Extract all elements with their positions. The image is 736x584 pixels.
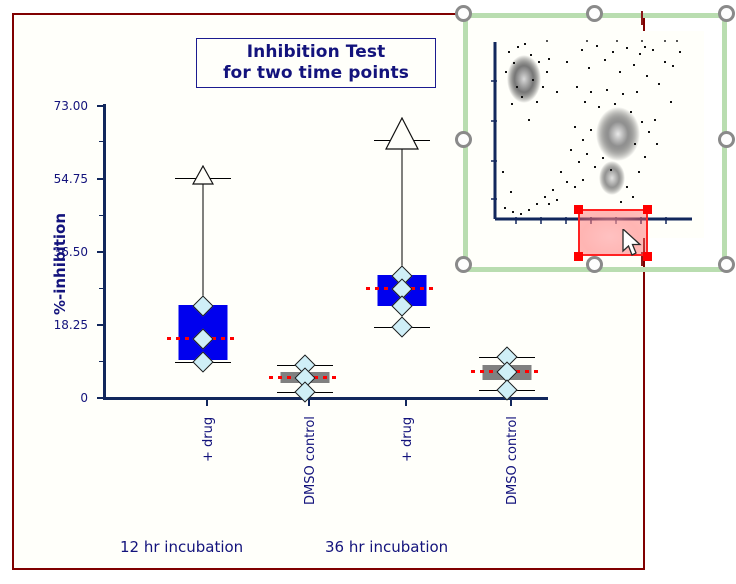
x-tick-3 <box>405 399 407 406</box>
boxplot-dmso-12hr[interactable] <box>260 100 350 400</box>
gate-handle-bottom-left[interactable] <box>574 252 583 261</box>
inset-scatter-object[interactable] <box>455 5 735 280</box>
gate-handle-bottom-right[interactable] <box>643 252 652 261</box>
resize-handle-bottom-right[interactable] <box>718 256 735 273</box>
resize-handle-top-left[interactable] <box>455 5 472 22</box>
y-minor-tick <box>99 215 104 216</box>
x-tick-4 <box>510 399 512 406</box>
resize-handle-top-center[interactable] <box>586 5 603 22</box>
boxplot-drug-36hr[interactable] <box>357 100 447 400</box>
triangle-marker-upper <box>385 117 419 150</box>
y-tick-5475 <box>97 178 105 180</box>
scatter-plot-canvas[interactable] <box>486 31 704 238</box>
group-label-12hr: 12 hr incubation <box>120 538 243 556</box>
category-label-4: DMSO control <box>505 416 520 505</box>
y-tick-3650 <box>97 251 105 253</box>
resize-handle-middle-left[interactable] <box>455 131 472 148</box>
y-tick-73 <box>97 105 105 107</box>
category-label-3: + drug <box>400 417 415 462</box>
resize-handle-bottom-left[interactable] <box>455 256 472 273</box>
resize-handle-top-right[interactable] <box>718 5 735 22</box>
y-minor-tick <box>99 288 104 289</box>
x-tick-1 <box>206 399 208 406</box>
y-minor-tick <box>99 141 104 142</box>
y-minor-tick <box>99 361 104 362</box>
chart-title-line-2: for two time points <box>223 63 409 84</box>
y-tick-1825 <box>97 324 105 326</box>
arrow-pointer-icon <box>622 229 644 259</box>
gate-handle-top-left[interactable] <box>574 205 583 214</box>
gate-handle-top-right[interactable] <box>643 205 652 214</box>
marker-whisker-low <box>391 316 412 337</box>
category-label-1: + drug <box>201 417 216 462</box>
x-tick-2 <box>308 399 310 406</box>
scatter-svg <box>486 31 704 238</box>
resize-handle-bottom-center[interactable] <box>586 256 603 273</box>
chart-title-line-1: Inhibition Test <box>247 42 386 63</box>
boxplot-drug-12hr[interactable] <box>158 100 248 400</box>
frame-tickmark-top <box>641 11 643 25</box>
y-tick-label-5475: 54.75 <box>28 172 88 186</box>
y-tick-label-73: 73.00 <box>28 99 88 113</box>
y-tick-label-0: 0 <box>28 391 88 405</box>
chart-title-box[interactable]: Inhibition Test for two time points <box>196 38 436 88</box>
y-tick-0 <box>97 397 105 399</box>
group-label-36hr: 36 hr incubation <box>325 538 448 556</box>
category-label-2: DMSO control <box>303 416 318 505</box>
marker-lower <box>294 381 315 402</box>
y-axis-title: %-inhibition <box>51 194 69 334</box>
resize-handle-middle-right[interactable] <box>718 131 735 148</box>
marker-lower <box>496 379 517 400</box>
triangle-marker-upper <box>192 165 214 185</box>
